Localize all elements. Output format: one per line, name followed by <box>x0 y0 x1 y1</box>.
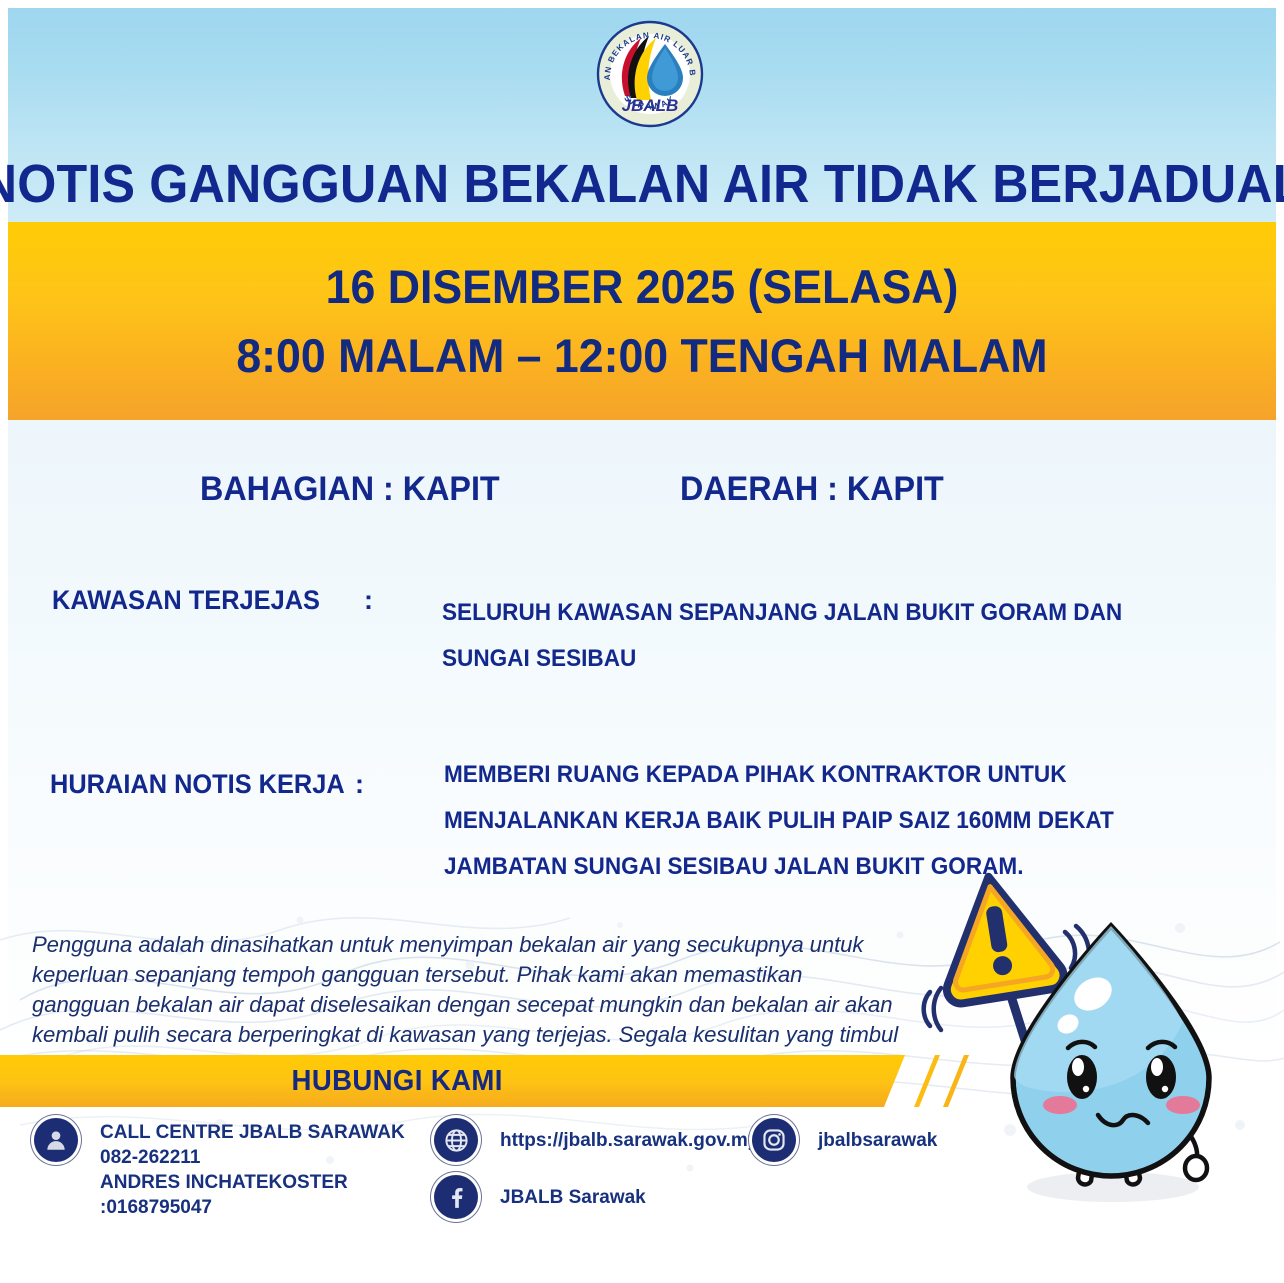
notice-time: 8:00 MALAM – 12:00 TENGAH MALAM <box>236 328 1047 383</box>
contact-instagram[interactable]: jbalbsarawak <box>752 1118 937 1162</box>
jbalb-logo: JBALB JABATAN BEKALAN AIR LUAR BANDAR SA… <box>595 18 705 132</box>
contact-facebook-text: JBALB Sarawak <box>500 1185 646 1210</box>
contact-header-text: HUBUNGI KAMI <box>292 1065 503 1098</box>
work-description-line1: MEMBERI RUANG KEPADA PIHAK KONTRAKTOR UN… <box>444 752 1114 798</box>
contact-website[interactable]: https://jbalb.sarawak.gov.my/ <box>434 1118 764 1162</box>
work-description-colon: : <box>355 769 364 800</box>
affected-area-line2: SUNGAI SESIBAU <box>442 636 1122 682</box>
affected-area-line1: SELURUH KAWASAN SEPANJANG JALAN BUKIT GO… <box>442 590 1122 636</box>
decor-stripe-1 <box>914 1055 940 1107</box>
page-title: NOTIS GANGGUAN BEKALAN AIR TIDAK BERJADU… <box>8 150 1276 218</box>
instagram-icon <box>752 1118 796 1162</box>
work-description-label: HURAIAN NOTIS KERJA <box>50 769 345 800</box>
globe-icon <box>434 1118 478 1162</box>
notice-date: 16 DISEMBER 2025 (SELASA) <box>326 259 959 314</box>
date-time-band: 16 DISEMBER 2025 (SELASA) 8:00 MALAM – 1… <box>8 222 1276 420</box>
decor-stripe-2 <box>943 1055 969 1107</box>
water-droplet-mascot <box>908 862 1284 1210</box>
affected-area-colon: : <box>364 585 373 616</box>
contact-header-shape: HUBUNGI KAMI <box>0 1055 905 1107</box>
division-district-row: BAHAGIAN : KAPIT DAERAH : KAPIT <box>8 470 1276 514</box>
contact-call-centre-text: CALL CENTRE JBALB SARAWAK 082-262211 AND… <box>100 1120 405 1220</box>
affected-area-value: SELURUH KAWASAN SEPANJANG JALAN BUKIT GO… <box>442 590 1122 682</box>
warning-triangle-sign <box>930 868 1065 1006</box>
work-description-line2: MENJALANKAN KERJA BAIK PULIH PAIP SAIZ 1… <box>444 798 1114 844</box>
contact-call-centre[interactable]: CALL CENTRE JBALB SARAWAK 082-262211 AND… <box>34 1118 405 1220</box>
contact-website-text: https://jbalb.sarawak.gov.my/ <box>500 1128 764 1153</box>
facebook-icon <box>434 1175 478 1219</box>
contact-header-bar: HUBUNGI KAMI <box>0 1055 1284 1107</box>
page-title-text: NOTIS GANGGUAN BEKALAN AIR TIDAK BERJADU… <box>0 153 1284 215</box>
person-icon <box>34 1118 78 1162</box>
contact-facebook[interactable]: JBALB Sarawak <box>434 1175 646 1219</box>
notice-poster: JBALB JABATAN BEKALAN AIR LUAR BANDAR SA… <box>0 0 1284 1283</box>
contact-instagram-text: jbalbsarawak <box>818 1128 937 1153</box>
affected-area-label: KAWASAN TERJEJAS <box>52 585 320 616</box>
district-label: DAERAH : KAPIT <box>680 470 944 509</box>
division-label: BAHAGIAN : KAPIT <box>200 470 500 509</box>
